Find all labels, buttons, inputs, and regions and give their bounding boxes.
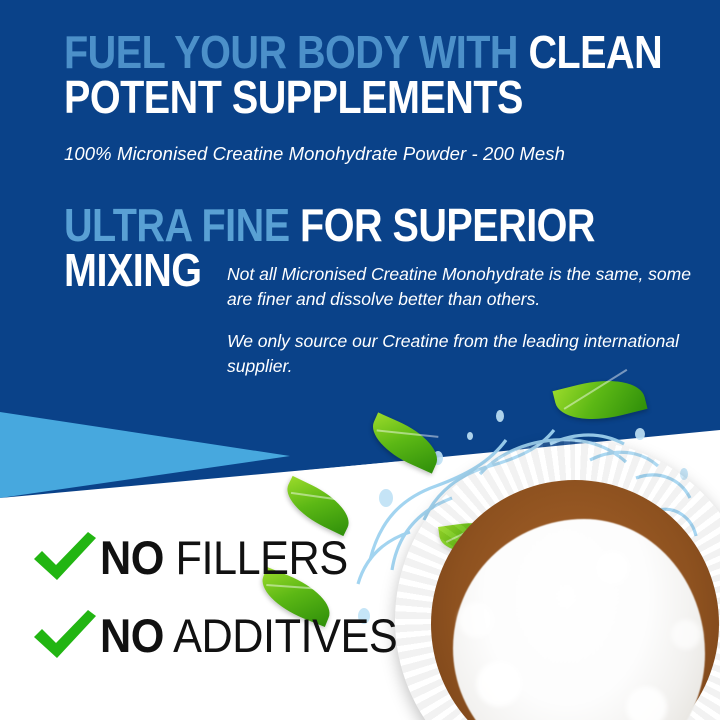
claim-light-text: ADDITIVES bbox=[164, 609, 397, 662]
hero-subtitle: 100% Micronised Creatine Monohydrate Pow… bbox=[64, 143, 565, 165]
section2-body-copy: Not all Micronised Creatine Monohydrate … bbox=[227, 262, 707, 380]
section2-headline-white-text: FOR SUPERIOR bbox=[300, 199, 595, 251]
claim-label: NO ADDITIVES bbox=[100, 612, 397, 659]
claim-strong-text: NO bbox=[100, 531, 164, 584]
hero-headline-white-text: CLEAN bbox=[528, 26, 662, 78]
product-promo-graphic: FUEL YOUR BODY WITH CLEAN POTENT SUPPLEM… bbox=[0, 0, 720, 720]
claims-list: NO FILLERS NO ADDITIVES bbox=[30, 518, 430, 674]
claim-strong-text: NO bbox=[100, 609, 164, 662]
hero-headline-block: FUEL YOUR BODY WITH CLEAN POTENT SUPPLEM… bbox=[64, 30, 664, 119]
claim-row: NO FILLERS bbox=[30, 518, 430, 596]
body-paragraph-1: Not all Micronised Creatine Monohydrate … bbox=[227, 262, 707, 313]
hero-headline-line-1: FUEL YOUR BODY WITH CLEAN bbox=[64, 30, 580, 75]
section2-headline-line-1: ULTRA FINE FOR SUPERIOR bbox=[64, 203, 597, 248]
hero-headline-line-2: POTENT SUPPLEMENTS bbox=[64, 75, 580, 120]
check-icon bbox=[30, 606, 100, 664]
claim-light-text: FILLERS bbox=[164, 531, 348, 584]
claim-label: NO FILLERS bbox=[100, 534, 348, 581]
body-paragraph-2: We only source our Creatine from the lea… bbox=[227, 329, 707, 380]
claim-row: NO ADDITIVES bbox=[30, 596, 430, 674]
check-icon bbox=[30, 528, 100, 586]
